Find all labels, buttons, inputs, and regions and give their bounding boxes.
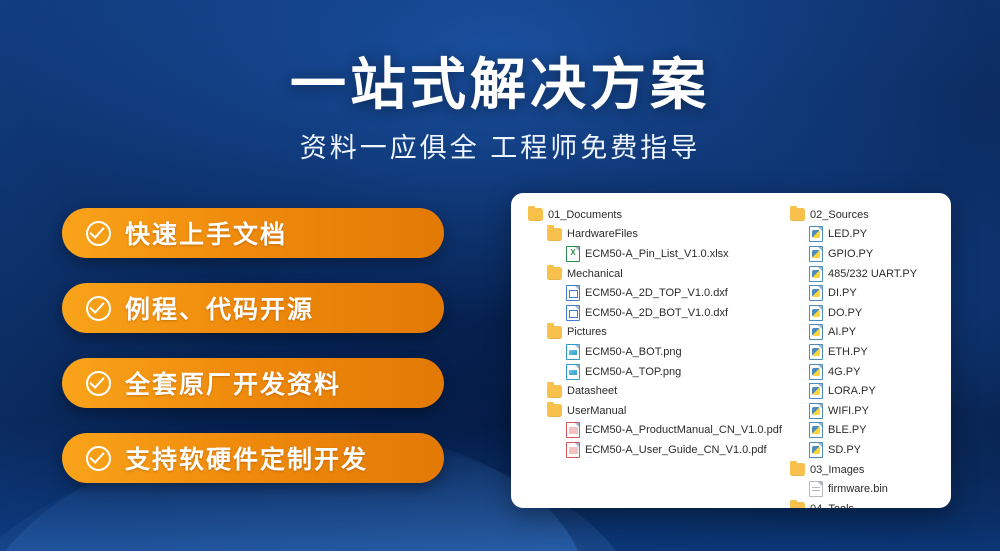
python-file-icon [809, 226, 823, 242]
tree-label: DO.PY [828, 307, 862, 319]
python-file-icon [809, 383, 823, 399]
tree-label: Pictures [567, 326, 607, 338]
tree-row[interactable]: DI.PY [790, 283, 951, 303]
promo-banner: 一站式解决方案 资料一应俱全 工程师免费指导 快速上手文档 例程、代码开源 全套… [0, 0, 1000, 551]
tree-row[interactable]: ETH.PY [790, 342, 951, 362]
tree-label: ECM50-A_User_Guide_CN_V1.0.pdf [585, 444, 767, 456]
tree-label: DI.PY [828, 287, 857, 299]
tree-label: LORA.PY [828, 385, 876, 397]
tree-row[interactable]: LORA.PY [790, 381, 951, 401]
tree-row[interactable]: 485/232 UART.PY [790, 264, 951, 284]
feature-label: 快速上手文档 [125, 215, 287, 251]
tree-row[interactable]: 03_Images [790, 460, 951, 480]
python-file-icon [809, 305, 823, 321]
tree-label: BLE.PY [828, 424, 867, 436]
tree-label: 03_Images [810, 464, 864, 476]
folder-icon [790, 208, 805, 221]
folder-icon [547, 404, 562, 417]
tree-row[interactable]: BLE.PY [790, 421, 951, 441]
feature-pill-1[interactable]: 快速上手文档 [62, 208, 444, 258]
file-tree-card: 01_Documents HardwareFiles ECM50-A_Pin_L… [511, 193, 951, 508]
tree-row[interactable]: DO.PY [790, 303, 951, 323]
python-file-icon [809, 266, 823, 282]
feature-pill-4[interactable]: 支持软硬件定制开发 [62, 433, 444, 483]
check-circle-icon [86, 221, 111, 246]
tree-row[interactable]: ECM50-A_User_Guide_CN_V1.0.pdf [528, 440, 786, 460]
feature-label: 支持软硬件定制开发 [125, 440, 368, 476]
tree-row[interactable]: 04_Tools [790, 499, 951, 508]
tree-label: 485/232 UART.PY [828, 268, 917, 280]
tree-row[interactable]: Datasheet [528, 381, 786, 401]
folder-icon [790, 502, 805, 508]
tree-label: ECM50-A_2D_TOP_V1.0.dxf [585, 287, 728, 299]
check-circle-icon [86, 371, 111, 396]
tree-row[interactable]: GPIO.PY [790, 244, 951, 264]
file-tree-left-column: 01_Documents HardwareFiles ECM50-A_Pin_L… [511, 205, 786, 508]
python-file-icon [809, 324, 823, 340]
tree-label: Datasheet [567, 385, 617, 397]
tree-label: ECM50-A_BOT.png [585, 346, 682, 358]
tree-row[interactable]: 02_Sources [790, 205, 951, 225]
folder-icon [547, 267, 562, 280]
python-file-icon [809, 442, 823, 458]
tree-row[interactable]: Mechanical [528, 264, 786, 284]
tree-row[interactable]: ECM50-A_TOP.png [528, 362, 786, 382]
dxf-file-icon [566, 285, 580, 301]
tree-label: 02_Sources [810, 209, 869, 221]
tree-row[interactable]: firmware.bin [790, 479, 951, 499]
binary-file-icon [809, 481, 823, 497]
tree-label: ECM50-A_2D_BOT_V1.0.dxf [585, 307, 728, 319]
tree-row[interactable]: UserManual [528, 401, 786, 421]
tree-label: 04_Tools [810, 503, 854, 508]
tree-label: 4G.PY [828, 366, 860, 378]
python-file-icon [809, 246, 823, 262]
tree-row[interactable]: Pictures [528, 323, 786, 343]
tree-row[interactable]: WIFI.PY [790, 401, 951, 421]
tree-label: ECM50-A_ProductManual_CN_V1.0.pdf [585, 424, 782, 436]
folder-icon [528, 208, 543, 221]
tree-label: ECM50-A_Pin_List_V1.0.xlsx [585, 248, 729, 260]
tree-row[interactable]: AI.PY [790, 323, 951, 343]
pdf-file-icon [566, 422, 580, 438]
check-circle-icon [86, 296, 111, 321]
tree-label: WIFI.PY [828, 405, 869, 417]
image-file-icon [566, 344, 580, 360]
file-tree-right-column: 02_Sources LED.PY GPIO.PY 485/232 UART.P… [786, 205, 951, 508]
python-file-icon [809, 422, 823, 438]
tree-row[interactable]: ECM50-A_2D_BOT_V1.0.dxf [528, 303, 786, 323]
page-subtitle: 资料一应俱全 工程师免费指导 [0, 126, 1000, 165]
tree-row[interactable]: ECM50-A_ProductManual_CN_V1.0.pdf [528, 421, 786, 441]
tree-label: SD.PY [828, 444, 861, 456]
dxf-file-icon [566, 305, 580, 321]
tree-row[interactable]: 4G.PY [790, 362, 951, 382]
tree-label: AI.PY [828, 326, 856, 338]
tree-label: HardwareFiles [567, 228, 638, 240]
folder-icon [547, 326, 562, 339]
tree-row[interactable]: ECM50-A_Pin_List_V1.0.xlsx [528, 244, 786, 264]
python-file-icon [809, 285, 823, 301]
check-circle-icon [86, 446, 111, 471]
folder-icon [790, 463, 805, 476]
folder-icon [547, 385, 562, 398]
feature-label: 全套原厂开发资料 [125, 365, 341, 401]
python-file-icon [809, 403, 823, 419]
image-file-icon [566, 364, 580, 380]
tree-row[interactable]: LED.PY [790, 225, 951, 245]
tree-label: Mechanical [567, 268, 623, 280]
tree-label: LED.PY [828, 228, 867, 240]
tree-label: ECM50-A_TOP.png [585, 366, 681, 378]
tree-row[interactable]: SD.PY [790, 440, 951, 460]
tree-label: firmware.bin [828, 483, 888, 495]
folder-icon [547, 228, 562, 241]
feature-list: 快速上手文档 例程、代码开源 全套原厂开发资料 支持软硬件定制开发 [62, 208, 482, 508]
feature-label: 例程、代码开源 [125, 290, 314, 326]
feature-pill-2[interactable]: 例程、代码开源 [62, 283, 444, 333]
python-file-icon [809, 364, 823, 380]
feature-pill-3[interactable]: 全套原厂开发资料 [62, 358, 444, 408]
tree-label: 01_Documents [548, 209, 622, 221]
pdf-file-icon [566, 442, 580, 458]
tree-row[interactable]: ECM50-A_BOT.png [528, 342, 786, 362]
tree-row[interactable]: HardwareFiles [528, 225, 786, 245]
tree-row[interactable]: 01_Documents [528, 205, 786, 225]
page-title: 一站式解决方案 [0, 40, 1000, 121]
tree-label: UserManual [567, 405, 626, 417]
tree-label: GPIO.PY [828, 248, 873, 260]
excel-file-icon [566, 246, 580, 262]
tree-label: ETH.PY [828, 346, 868, 358]
tree-row[interactable]: ECM50-A_2D_TOP_V1.0.dxf [528, 283, 786, 303]
python-file-icon [809, 344, 823, 360]
